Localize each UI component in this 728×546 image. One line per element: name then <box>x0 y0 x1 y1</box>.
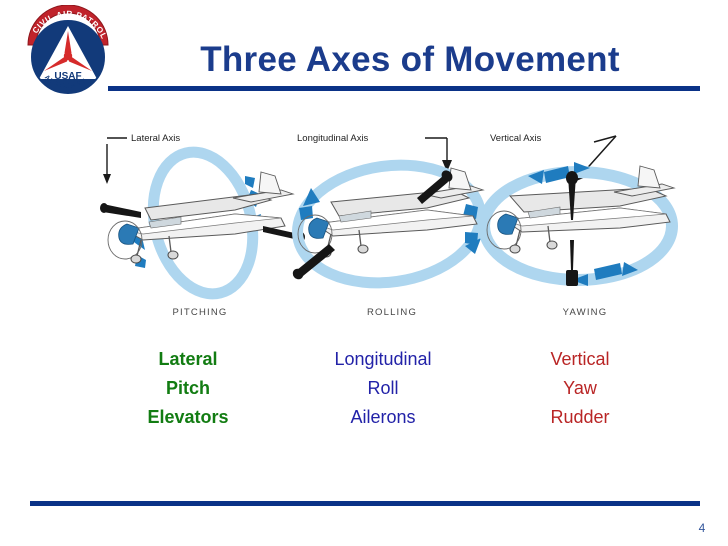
term-control-ailerons: Ailerons <box>283 403 483 432</box>
diagram-row: Lateral Axis PITCHING <box>0 128 728 318</box>
caption-yawing: YAWING <box>470 307 700 318</box>
slide: CIVIL AIR PATROL USAF AUXILIARY Three Ax… <box>0 0 728 546</box>
axis-label-vertical: Vertical Axis <box>490 133 541 144</box>
page-title: Three Axes of Movement <box>120 40 700 80</box>
logo-usaf-text: USAF <box>54 71 81 82</box>
diagram-yawing: Vertical Axis YAWING <box>470 128 700 318</box>
axis-leader-line <box>425 138 447 160</box>
terms-column-lateral: Lateral Pitch Elevators <box>88 345 288 432</box>
page-number: 4 <box>690 521 714 535</box>
terms-column-longitudinal: Longitudinal Roll Ailerons <box>283 345 483 432</box>
civil-air-patrol-logo: CIVIL AIR PATROL USAF AUXILIARY <box>20 5 116 100</box>
terms-row: Lateral Pitch Elevators Longitudinal Rol… <box>0 345 728 440</box>
term-motion-pitch: Pitch <box>88 374 288 403</box>
term-control-elevators: Elevators <box>88 403 288 432</box>
term-motion-roll: Roll <box>283 374 483 403</box>
term-motion-yaw: Yaw <box>480 374 680 403</box>
term-axis-longitudinal: Longitudinal <box>283 345 483 374</box>
axis-leader-line <box>107 138 127 176</box>
axis-label-lateral: Lateral Axis <box>131 133 180 144</box>
title-underline <box>108 86 700 91</box>
term-axis-lateral: Lateral <box>88 345 288 374</box>
axis-leader-arrowhead <box>103 174 111 184</box>
term-control-rudder: Rudder <box>480 403 680 432</box>
footer-divider <box>30 501 700 506</box>
term-axis-vertical: Vertical <box>480 345 680 374</box>
airplane-illustration <box>108 172 293 263</box>
terms-column-vertical: Vertical Yaw Rudder <box>480 345 680 432</box>
axis-label-longitudinal: Longitudinal Axis <box>297 133 369 144</box>
